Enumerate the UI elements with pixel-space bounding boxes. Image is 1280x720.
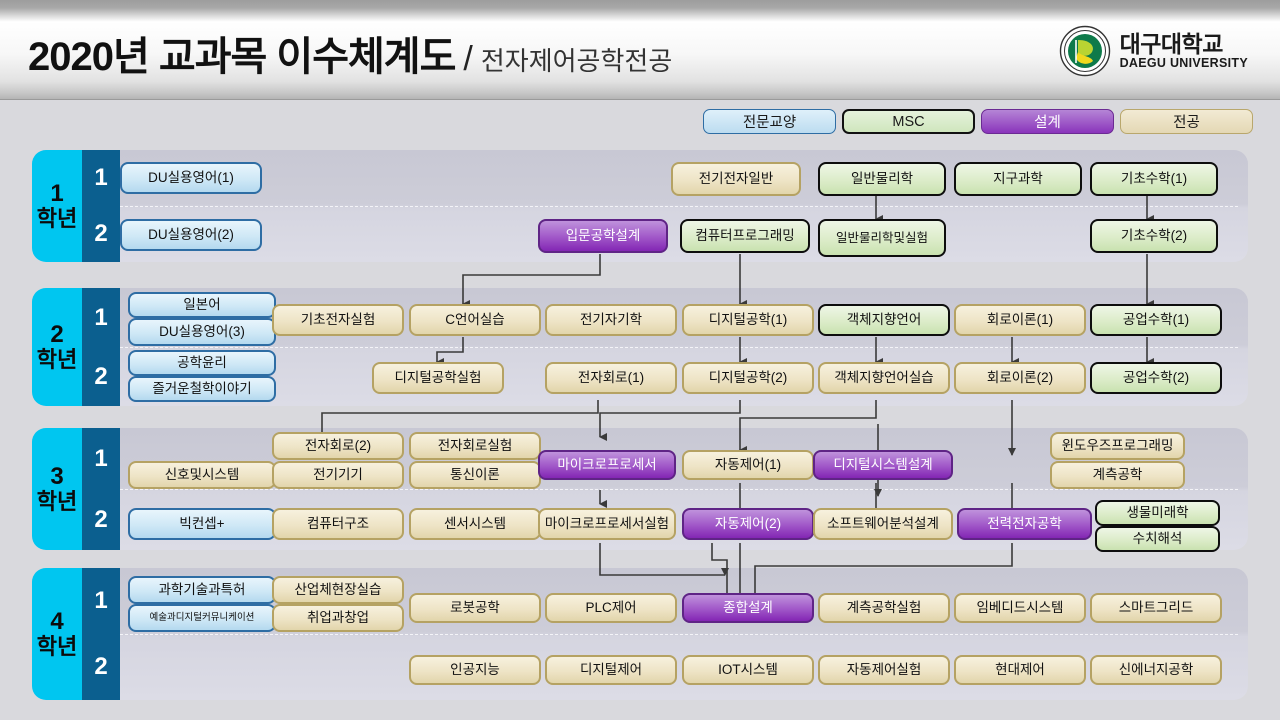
course-box[interactable]: 디지털공학(2) bbox=[682, 362, 814, 394]
course-box[interactable]: 공업수학(1) bbox=[1090, 304, 1222, 336]
semester-1-label: 1 bbox=[82, 568, 120, 634]
year-label-1: 1 학년 bbox=[32, 150, 82, 262]
year-number: 2 bbox=[50, 322, 63, 348]
daegu-university-seal-icon bbox=[1059, 25, 1111, 77]
year-band-3: 3 학년 1 2 전자회로(2) 전자회로실험 신호및시스템 전기기기 통신이론… bbox=[32, 428, 1248, 550]
course-box[interactable]: 일반물리학 bbox=[818, 162, 946, 196]
course-box[interactable]: 컴퓨터프로그래밍 bbox=[680, 219, 810, 253]
course-box[interactable]: 일반물리학및실험 bbox=[818, 219, 946, 257]
course-box[interactable]: 기초수학(1) bbox=[1090, 162, 1218, 196]
course-box[interactable]: 전기기기 bbox=[272, 461, 404, 489]
course-box[interactable]: 자동제어(1) bbox=[682, 450, 814, 480]
legend: 전문교양 MSC 설계 전공 bbox=[703, 109, 1253, 134]
university-logo: 대구대학교 DAEGU UNIVERSITY bbox=[1059, 25, 1248, 77]
year-number: 1 bbox=[50, 181, 63, 207]
logo-text-korean: 대구대학교 bbox=[1120, 32, 1248, 56]
course-box[interactable]: 회로이론(2) bbox=[954, 362, 1086, 394]
course-box[interactable]: 수치해석 bbox=[1095, 526, 1220, 552]
course-box[interactable]: 신에너지공학 bbox=[1090, 655, 1222, 685]
course-box[interactable]: 기초수학(2) bbox=[1090, 219, 1218, 253]
title-separator: / bbox=[463, 40, 472, 79]
logo-text-english: DAEGU UNIVERSITY bbox=[1120, 56, 1248, 70]
semester-column-2: 1 2 bbox=[82, 288, 120, 406]
course-box[interactable]: 공업수학(2) bbox=[1090, 362, 1222, 394]
legend-item-major: 전공 bbox=[1120, 109, 1253, 134]
course-box[interactable]: 마이크로프로세서실험 bbox=[538, 508, 676, 540]
course-box[interactable]: 전자회로(1) bbox=[545, 362, 677, 394]
semester-1-label: 1 bbox=[82, 428, 120, 489]
course-box[interactable]: 즐거운철학이야기 bbox=[128, 376, 276, 402]
course-box[interactable]: 임베디드시스템 bbox=[954, 593, 1086, 623]
page-title-main: 2020년 교과목 이수체계도 bbox=[28, 24, 455, 82]
semester-column-1: 1 2 bbox=[82, 150, 120, 262]
course-box[interactable]: 디지털공학(1) bbox=[682, 304, 814, 336]
course-box[interactable]: 회로이론(1) bbox=[954, 304, 1086, 336]
page-title: 2020년 교과목 이수체계도 / 전자제어공학전공 bbox=[28, 24, 672, 82]
semester-column-4: 1 2 bbox=[82, 568, 120, 700]
course-box[interactable]: 디지털시스템설계 bbox=[813, 450, 953, 480]
year-suffix: 학년 bbox=[37, 635, 77, 659]
course-box[interactable]: 현대제어 bbox=[954, 655, 1086, 685]
course-box[interactable]: 입문공학설계 bbox=[538, 219, 668, 253]
course-box[interactable]: 윈도우즈프로그래밍 bbox=[1050, 432, 1185, 460]
year-suffix: 학년 bbox=[37, 207, 77, 231]
year-suffix: 학년 bbox=[37, 348, 77, 372]
course-box[interactable]: 전기전자일반 bbox=[671, 162, 801, 196]
year-number: 4 bbox=[50, 609, 63, 635]
course-box[interactable]: 디지털공학실험 bbox=[372, 362, 504, 394]
course-box[interactable]: 마이크로프로세서 bbox=[538, 450, 676, 480]
course-box[interactable]: 기초전자실험 bbox=[272, 304, 404, 336]
course-box[interactable]: 빅컨셉+ bbox=[128, 508, 276, 540]
course-box[interactable]: 객체지향언어 bbox=[818, 304, 950, 336]
semester-column-3: 1 2 bbox=[82, 428, 120, 550]
course-box[interactable]: C언어실습 bbox=[409, 304, 541, 336]
semester-2-label: 2 bbox=[82, 347, 120, 406]
year-number: 3 bbox=[50, 464, 63, 490]
course-box[interactable]: DU실용영어(2) bbox=[120, 219, 262, 251]
year-label-3: 3 학년 bbox=[32, 428, 82, 550]
course-box[interactable]: 취업과창업 bbox=[272, 604, 404, 632]
course-box[interactable]: 객체지향언어실습 bbox=[818, 362, 950, 394]
page-header: 2020년 교과목 이수체계도 / 전자제어공학전공 대구대학교 DAEGU U… bbox=[0, 0, 1280, 100]
semester-1-label: 1 bbox=[82, 288, 120, 347]
course-box[interactable]: 통신이론 bbox=[409, 461, 541, 489]
year-label-4: 4 학년 bbox=[32, 568, 82, 700]
course-box[interactable]: IOT시스템 bbox=[682, 655, 814, 685]
semester-divider bbox=[120, 634, 1238, 635]
course-box[interactable]: 신호및시스템 bbox=[128, 461, 276, 489]
semester-divider bbox=[120, 206, 1238, 207]
year-band-2: 2 학년 1 2 일본어 DU실용영어(3) 기초전자실험 C언어실습 전기자기… bbox=[32, 288, 1248, 406]
page-title-subtitle: 전자제어공학전공 bbox=[481, 41, 672, 78]
course-box[interactable]: 전력전자공학 bbox=[957, 508, 1092, 540]
semester-2-label: 2 bbox=[82, 489, 120, 550]
semester-2-label: 2 bbox=[82, 634, 120, 700]
course-box[interactable]: 스마트그리드 bbox=[1090, 593, 1222, 623]
course-box[interactable]: 인공지능 bbox=[409, 655, 541, 685]
course-box[interactable]: 전자회로(2) bbox=[272, 432, 404, 460]
legend-item-msc: MSC bbox=[842, 109, 975, 134]
course-box[interactable]: 로봇공학 bbox=[409, 593, 541, 623]
course-box[interactable]: 컴퓨터구조 bbox=[272, 508, 404, 540]
logo-text: 대구대학교 DAEGU UNIVERSITY bbox=[1120, 32, 1248, 70]
year-band-4: 4 학년 1 2 과학기술과특허 예술과디지털커뮤니케이션 산업체현장실습 취업… bbox=[32, 568, 1248, 700]
course-box[interactable]: 지구과학 bbox=[954, 162, 1082, 196]
course-box[interactable]: 소프트웨어분석설계 bbox=[813, 508, 953, 540]
semester-divider bbox=[120, 489, 1238, 490]
course-box[interactable]: 종합설계 bbox=[682, 593, 814, 623]
course-box[interactable]: DU실용영어(3) bbox=[128, 318, 276, 346]
legend-item-general-education: 전문교양 bbox=[703, 109, 836, 134]
semester-divider bbox=[120, 347, 1238, 348]
semester-1-label: 1 bbox=[82, 150, 120, 206]
course-box[interactable]: 예술과디지털커뮤니케이션 bbox=[128, 604, 276, 632]
legend-item-design: 설계 bbox=[981, 109, 1114, 134]
semester-2-label: 2 bbox=[82, 206, 120, 262]
course-box[interactable]: 디지털제어 bbox=[545, 655, 677, 685]
course-box[interactable]: 생물미래학 bbox=[1095, 500, 1220, 526]
year-suffix: 학년 bbox=[37, 490, 77, 514]
course-box[interactable]: 전자회로실험 bbox=[409, 432, 541, 460]
course-box[interactable]: 산업체현장실습 bbox=[272, 576, 404, 604]
course-box[interactable]: 자동제어(2) bbox=[682, 508, 814, 540]
course-box[interactable]: PLC제어 bbox=[545, 593, 677, 623]
course-box[interactable]: 자동제어실험 bbox=[818, 655, 950, 685]
course-box[interactable]: 센서시스템 bbox=[409, 508, 541, 540]
course-box[interactable]: 계측공학실험 bbox=[818, 593, 950, 623]
course-box[interactable]: 공학윤리 bbox=[128, 350, 276, 376]
year-label-2: 2 학년 bbox=[32, 288, 82, 406]
course-box[interactable]: 전기자기학 bbox=[545, 304, 677, 336]
course-box[interactable]: 일본어 bbox=[128, 292, 276, 318]
year-band-1: 1 학년 1 2 DU실용영어(1) 전기전자일반 일반물리학 지구과학 기초수… bbox=[32, 150, 1248, 262]
course-box[interactable]: 계측공학 bbox=[1050, 461, 1185, 489]
course-box[interactable]: DU실용영어(1) bbox=[120, 162, 262, 194]
course-box[interactable]: 과학기술과특허 bbox=[128, 576, 276, 604]
